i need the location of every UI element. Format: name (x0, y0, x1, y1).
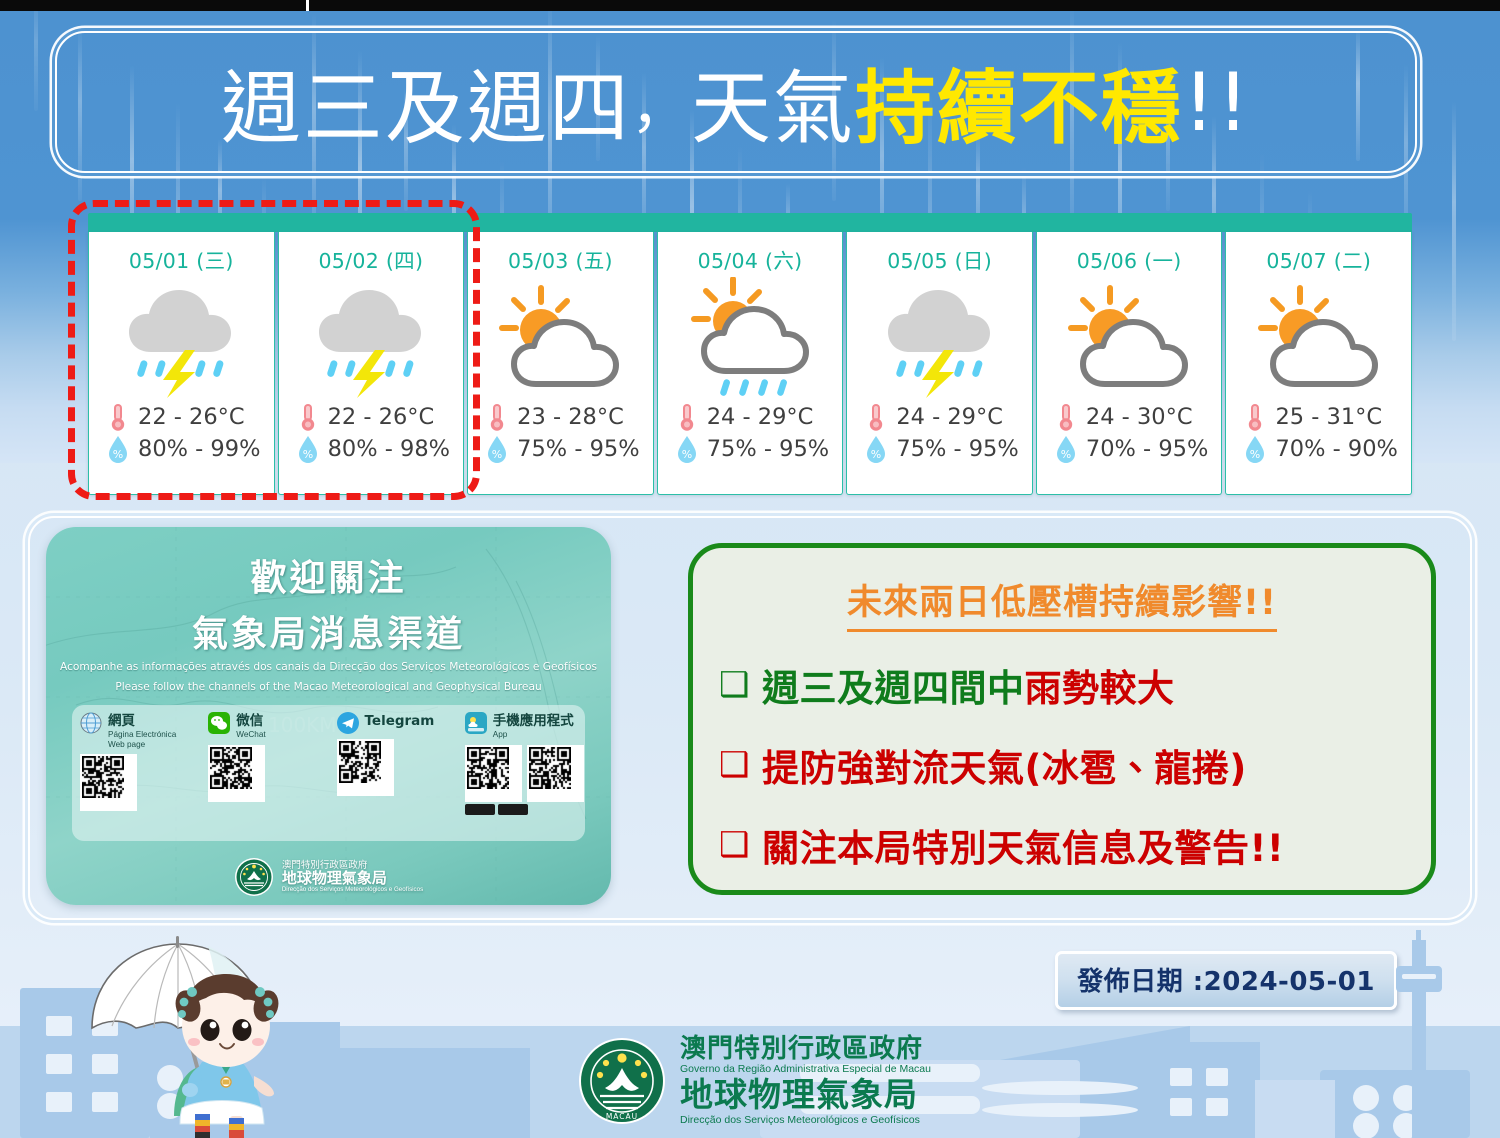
advisory-title: 未來兩日低壓槽持續影響!! (847, 574, 1277, 632)
humidity-row: % 75% - 95% (486, 434, 653, 464)
sun-behind-cloud-icon (496, 282, 624, 398)
advisory-text: 週三及週四間中雨勢較大 (762, 658, 1175, 712)
qr-code-image[interactable] (80, 754, 137, 811)
qr-channel-labels: 微信 WeChat (236, 712, 265, 740)
advisory-title-wrap: 未來兩日低壓槽持續影響!! (719, 574, 1405, 632)
government-logo-block: MACAU 澳門特別行政區政府 Governo da Região Admini… (578, 1035, 931, 1126)
thermometer-icon (1244, 402, 1266, 432)
advisory-item: ❑ 週三及週四間中雨勢較大 (719, 658, 1405, 712)
temperature-row: 24 - 29°C (676, 402, 843, 432)
qr-code-image[interactable] (208, 745, 265, 802)
svg-text:%: % (1250, 448, 1260, 461)
title-comma: ， (631, 60, 691, 144)
title-prefix: 週三及週四 (221, 44, 631, 160)
humidity-droplet-icon: % (486, 434, 508, 464)
sun-cloud-rain-icon (686, 277, 814, 403)
svg-text:%: % (302, 448, 312, 461)
promo-subtext-en: Please follow the channels of the Macao … (46, 677, 611, 697)
sun-behind-cloud-icon (1255, 282, 1383, 398)
temperature-row: 25 - 31°C (1244, 402, 1411, 432)
telegram-icon (337, 712, 359, 734)
app-store-badges[interactable] (465, 804, 528, 815)
humidity-row: % 70% - 90% (1244, 434, 1411, 464)
forecast-date: 05/05 (日) (887, 244, 992, 274)
qr-code-image[interactable] (337, 739, 394, 796)
temperature-row: 24 - 29°C (865, 402, 1032, 432)
top-strip-notch (306, 0, 309, 11)
forecast-date: 05/07 (二) (1266, 244, 1371, 274)
qr-channel-name-zh: 網頁 (108, 713, 135, 729)
promo-channels-panel: 100KM 歡迎關注 氣象局消息渠道 Acompanhe as informaç… (46, 527, 611, 905)
forecast-weather-icon (468, 274, 653, 406)
forecast-metrics: 24 - 30°C % 70% - 95% (1037, 402, 1222, 464)
forecast-metrics: 24 - 29°C % 75% - 95% (658, 402, 843, 464)
qr-channel-name-en: Web page (108, 740, 176, 749)
thermometer-icon (676, 402, 698, 432)
temperature-value: 24 - 30°C (1086, 404, 1193, 430)
title-middle: 天氣 (691, 44, 855, 160)
forecast-weather-icon (279, 274, 464, 406)
promo-subtext: Acompanhe as informações através dos can… (46, 657, 611, 697)
humidity-droplet-icon: % (676, 434, 698, 464)
thermometer-icon (297, 402, 319, 432)
forecast-day-card[interactable]: 05/06 (一) 24 - 30°C % 70% - 95% (1036, 232, 1223, 495)
svg-text:%: % (1061, 448, 1071, 461)
humidity-value: 80% - 99% (138, 436, 260, 462)
promo-bureau-logo: 澳門特別行政區政府 地球物理氣象局 Direcção dos Serviços … (46, 857, 611, 897)
app-icon (465, 712, 487, 734)
thunderstorm-icon (876, 280, 1004, 400)
humidity-value: 75% - 95% (517, 436, 639, 462)
qr-channel-name-pt: WeChat (236, 730, 265, 739)
forecast-day-card[interactable]: 05/07 (二) 25 - 31°C % 70% - 90% (1225, 232, 1412, 495)
humidity-value: 75% - 95% (707, 436, 829, 462)
weather-girl-mascot (78, 930, 346, 1138)
promo-logo-text: 澳門特別行政區政府 地球物理氣象局 Direcção dos Serviços … (282, 861, 423, 893)
bureau-name-pt: Direcção dos Serviços Meteorológicos e G… (680, 1115, 931, 1126)
svg-text:MACAU: MACAU (606, 1112, 638, 1121)
humidity-row: % 75% - 95% (676, 434, 843, 464)
checkbox-bullet-icon: ❑ (719, 828, 750, 862)
advisory-text: 提防強對流天氣(冰雹、龍捲) (762, 738, 1247, 792)
svg-text:%: % (492, 448, 502, 461)
thermometer-icon (865, 402, 887, 432)
bureau-name-zh: 地球物理氣象局 (680, 1078, 931, 1113)
qr-channel-column[interactable]: 手機應用程式 App (457, 705, 585, 841)
advisory-panel: 未來兩日低壓槽持續影響!! ❑ 週三及週四間中雨勢較大❑ 提防強對流天氣(冰雹、… (688, 543, 1436, 895)
forecast-day-card[interactable]: 05/03 (五) 23 - 28°C % 75% - 95% (467, 232, 654, 495)
temperature-value: 25 - 31°C (1275, 404, 1382, 430)
forecast-weather-icon (1037, 274, 1222, 406)
qr-channel-labels: Telegram (365, 712, 435, 730)
macau-lotus-emblem-icon: MACAU (578, 1037, 666, 1125)
advisory-text-red: 關注本局特別天氣信息及警告!! (762, 827, 1284, 870)
promo-logo-pt: Direcção dos Serviços Meteorológicos e G… (282, 887, 423, 894)
forecast-day-card[interactable]: 05/05 (日) 24 - 29°C % 75% - 95% (846, 232, 1033, 495)
humidity-droplet-icon: % (107, 434, 129, 464)
forecast-day-card[interactable]: 05/01 (三) 22 - 26°C % 80% - 99% (88, 232, 275, 495)
forecast-metrics: 23 - 28°C % 75% - 95% (468, 402, 653, 464)
store-badge-icon[interactable] (498, 804, 528, 815)
advisory-items: ❑ 週三及週四間中雨勢較大❑ 提防強對流天氣(冰雹、龍捲)❑ 關注本局特別天氣信… (719, 658, 1405, 872)
forecast-date: 05/03 (五) (508, 244, 613, 274)
qr-code-image[interactable] (527, 745, 584, 802)
humidity-value: 70% - 90% (1275, 436, 1397, 462)
forecast-date: 05/02 (四) (318, 244, 423, 274)
title-highlight: 持續不穩 (855, 44, 1183, 160)
advisory-text-red: 雨勢較大 (1024, 667, 1174, 710)
forecast-cards-row: 05/01 (三) 22 - 26°C % 80% - 99% (88, 232, 1412, 495)
promo-heading-line2: 氣象局消息渠道 (46, 605, 611, 657)
qr-channel-column[interactable]: 網頁 Página Electrónica Web page (72, 705, 200, 841)
qr-channel-name-zh: 微信 (236, 713, 263, 729)
forecast-day-card[interactable]: 05/02 (四) 22 - 26°C % 80% - 98% (278, 232, 465, 495)
qr-code-group (208, 745, 265, 802)
temperature-value: 22 - 26°C (138, 404, 245, 430)
qr-code-group (80, 754, 137, 811)
humidity-droplet-icon: % (1244, 434, 1266, 464)
top-black-strip (0, 0, 1500, 11)
qr-channel-column[interactable]: Telegram (329, 705, 457, 841)
title-exclamation: !! (1183, 56, 1251, 149)
temperature-value: 24 - 29°C (896, 404, 1003, 430)
qr-channel-labels: 網頁 Página Electrónica Web page (108, 712, 176, 749)
temperature-row: 24 - 30°C (1055, 402, 1222, 432)
humidity-row: % 70% - 95% (1055, 434, 1222, 464)
svg-text:%: % (113, 448, 123, 461)
forecast-day-card[interactable]: 05/04 (六) 24 - 29°C (657, 232, 844, 495)
gov-name-pt: Governo da Região Administrativa Especia… (680, 1064, 931, 1075)
promo-logo-bureau: 地球物理氣象局 (282, 871, 423, 887)
temperature-row: 22 - 26°C (297, 402, 464, 432)
qr-channel-labels: 手機應用程式 App (493, 712, 574, 740)
qr-channels-panel: 網頁 Página Electrónica Web page 微信 WeChat (72, 705, 585, 841)
thunderstorm-icon (117, 280, 245, 400)
gov-name-zh: 澳門特別行政區政府 (680, 1035, 931, 1063)
advisory-text-red: 提防強對流天氣(冰雹、龍捲) (762, 747, 1247, 790)
qr-code-group (337, 739, 394, 796)
qr-channel-header: 手機應用程式 App (465, 712, 574, 740)
promo-heading: 歡迎關注 氣象局消息渠道 (46, 549, 611, 657)
weather-infographic-poster: 週三及週四，天氣持續不穩!! 05/01 (三) 22 - 26°C % (0, 0, 1500, 1138)
forecast-date: 05/06 (一) (1077, 244, 1182, 274)
advisory-text-green: 週三及週四間中 (762, 667, 1025, 710)
forecast-weather-icon (847, 274, 1032, 406)
qr-code-group (465, 745, 584, 802)
humidity-droplet-icon: % (297, 434, 319, 464)
forecast-metrics: 24 - 29°C % 75% - 95% (847, 402, 1032, 464)
svg-text:%: % (682, 448, 692, 461)
temperature-value: 23 - 28°C (517, 404, 624, 430)
promo-heading-line1: 歡迎關注 (46, 549, 611, 601)
advisory-item: ❑ 提防強對流天氣(冰雹、龍捲) (719, 738, 1405, 792)
svg-text:%: % (871, 448, 881, 461)
temperature-row: 22 - 26°C (107, 402, 274, 432)
qr-code-image[interactable] (465, 745, 522, 802)
forecast-weather-icon (658, 274, 843, 406)
page-title: 週三及週四，天氣持續不穩!! (55, 31, 1417, 173)
forecast-weather-icon (1226, 274, 1411, 406)
humidity-row: % 75% - 95% (865, 434, 1032, 464)
wechat-icon (208, 712, 230, 734)
promo-subtext-pt: Acompanhe as informações através dos can… (46, 657, 611, 677)
globe-icon (80, 712, 102, 734)
thermometer-icon (486, 402, 508, 432)
forecast-date: 05/01 (三) (129, 244, 234, 274)
temperature-value: 24 - 29°C (707, 404, 814, 430)
thermometer-icon (1055, 402, 1077, 432)
advisory-text: 關注本局特別天氣信息及警告!! (762, 818, 1284, 872)
humidity-droplet-icon: % (865, 434, 887, 464)
sun-behind-cloud-icon (1065, 282, 1193, 398)
checkbox-bullet-icon: ❑ (719, 748, 750, 782)
checkbox-bullet-icon: ❑ (719, 668, 750, 702)
qr-channel-name-pt: App (493, 730, 574, 739)
forecast-metrics: 22 - 26°C % 80% - 98% (279, 402, 464, 464)
temperature-row: 23 - 28°C (486, 402, 653, 432)
humidity-row: % 80% - 99% (107, 434, 274, 464)
qr-channel-column[interactable]: 微信 WeChat (200, 705, 328, 841)
qr-channel-name-pt: Página Electrónica (108, 730, 176, 739)
advisory-item: ❑ 關注本局特別天氣信息及警告!! (719, 818, 1405, 872)
mascot-body (174, 1056, 274, 1138)
humidity-value: 70% - 95% (1086, 436, 1208, 462)
qr-channel-header: 微信 WeChat (208, 712, 265, 740)
forecast-strip: 05/01 (三) 22 - 26°C % 80% - 99% (88, 213, 1412, 495)
qr-channel-header: 網頁 Página Electrónica Web page (80, 712, 176, 749)
thermometer-icon (107, 402, 129, 432)
qr-channel-name-zh: 手機應用程式 (493, 713, 574, 729)
forecast-metrics: 25 - 31°C % 70% - 90% (1226, 402, 1411, 464)
humidity-value: 80% - 98% (328, 436, 450, 462)
thunderstorm-icon (307, 280, 435, 400)
forecast-strip-header-bar (88, 213, 1412, 232)
humidity-droplet-icon: % (1055, 434, 1077, 464)
store-badge-icon[interactable] (465, 804, 495, 815)
qr-channel-name-zh: Telegram (365, 713, 435, 729)
forecast-metrics: 22 - 26°C % 80% - 99% (89, 402, 274, 464)
macau-lotus-emblem-icon (234, 857, 274, 897)
humidity-row: % 80% - 98% (297, 434, 464, 464)
qr-channel-header: Telegram (337, 712, 435, 734)
temperature-value: 22 - 26°C (328, 404, 435, 430)
government-logo-text: 澳門特別行政區政府 Governo da Região Administrati… (680, 1035, 931, 1126)
forecast-date: 05/04 (六) (698, 244, 803, 274)
forecast-weather-icon (89, 274, 274, 406)
humidity-value: 75% - 95% (896, 436, 1018, 462)
